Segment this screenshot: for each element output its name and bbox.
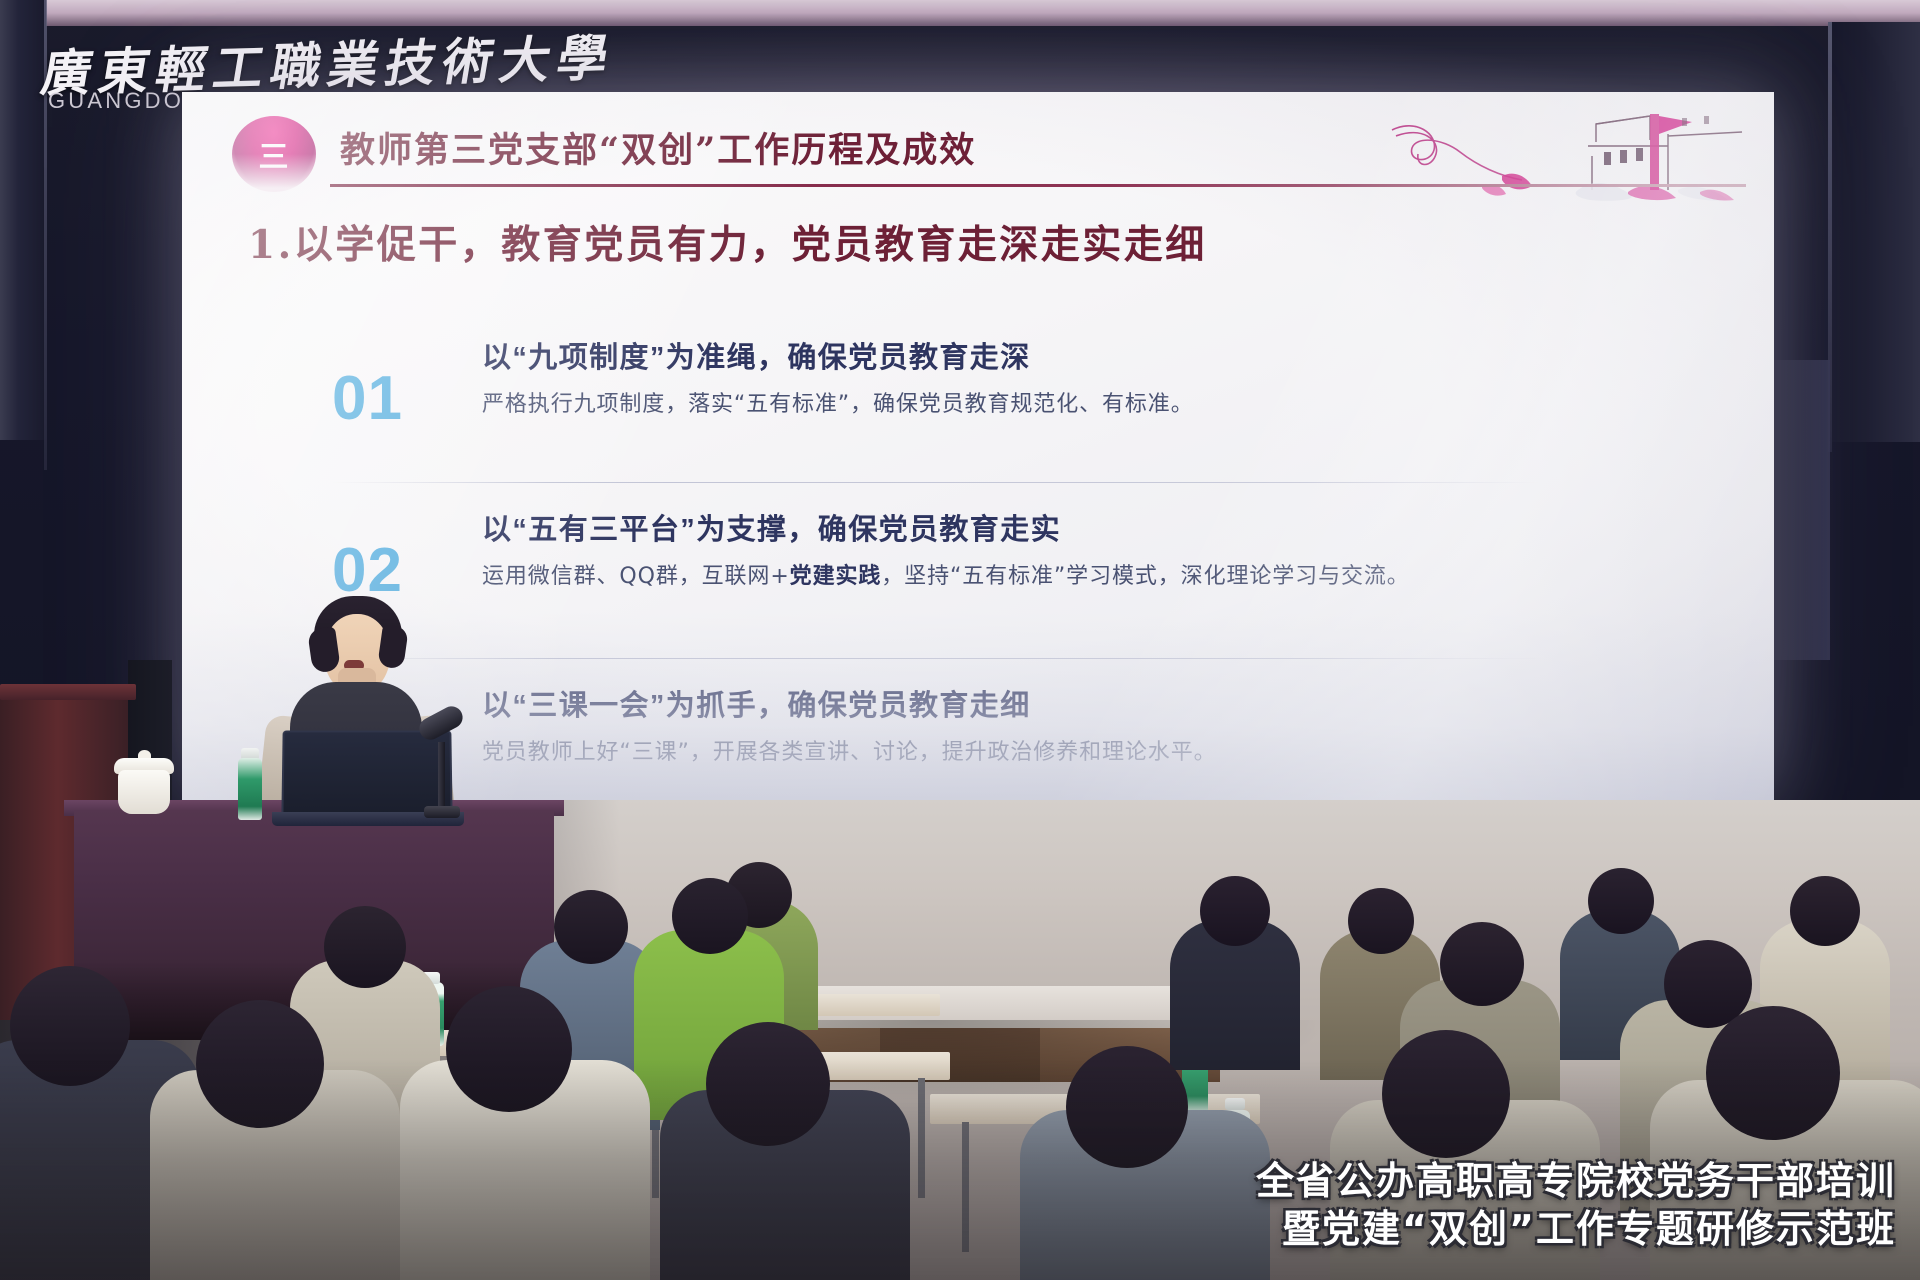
audience-head [1440,922,1524,1006]
desk-leg [918,1078,925,1198]
item-desc-bold: 党建实践 [790,564,882,589]
audience-head [1706,1006,1840,1140]
audience-head [324,906,406,988]
item-separator [332,482,1542,483]
wall-panel-right-lower [1774,360,1830,660]
audience-head [706,1022,830,1146]
audience-head [1382,1030,1510,1158]
item-heading: 以“五有三平台”为支撑，确保党员教育走实 [482,512,1622,548]
item-desc-prefix: 运用微信群、QQ群，互联网+ [482,564,790,589]
slide-header-rule [330,184,1746,187]
conference-photo: 廣東輕工職業技術大學 GUANGDONG INSTITUTE OF LIGHT … [0,0,1920,1280]
slide-subtitle: 1.以学促干，教育党员有力，党员教育走深走实走细 [248,214,1207,270]
item-desc-suffix: ，坚持“五有标准”学习模式，深化理论学习与交流。 [881,564,1409,589]
section-badge-fade [232,154,316,194]
item-body: 以“五有三平台”为支撑，确保党员教育走实 运用微信群、QQ群，互联网+党建实践，… [482,512,1622,592]
item-description: 运用微信群、QQ群，互联网+党建实践，坚持“五有标准”学习模式，深化理论学习与交… [482,562,1622,592]
audience-head [672,878,748,954]
audience-head [554,890,628,964]
audience-head [1348,888,1414,954]
projection-screen: 三 教师第三党支部“双创”工作历程及成效 1.以学促干，教育党员有力，党员教育走… [182,92,1774,802]
bottle-cap [1225,1098,1245,1110]
wall-panel-right [1828,22,1920,442]
audience-head [1200,876,1270,946]
audience-head [196,1000,324,1128]
event-caption-line-1: 全省公办高职高专院校党务干部培训 [1256,1157,1896,1206]
wall-panel-left [0,0,46,440]
event-caption: 全省公办高职高专院校党务干部培训 暨党建“双创”工作专题研修示范班 [1256,1157,1896,1254]
item-number: 01 [332,368,452,430]
item-number: 02 [332,540,452,602]
desk-leg [962,1122,969,1252]
audience-head [1066,1046,1188,1168]
item-description: 党员教师上好“三课”，开展各类宣讲、讨论，提升政治修养和理论水平。 [482,738,1622,768]
item-separator [332,658,1542,659]
audience-head [1588,868,1654,934]
audience-head [446,986,572,1112]
item-body: 以“九项制度”为准绳，确保党员教育走深 严格执行九项制度，落实“五有标准”，确保… [482,340,1622,420]
water-bottle-table [238,758,262,820]
item-heading: 以“九项制度”为准绳，确保党员教育走深 [482,340,1622,376]
item-desc-prefix: 严格执行九项制度，落实“五有标准”，确保党员教育规范化、有标准。 [482,392,1194,417]
microphone-base [424,806,460,818]
slide-header: 三 教师第三党支部“双创”工作历程及成效 [214,110,1744,196]
item-desc-prefix: 党员教师上好“三课”，开展各类宣讲、讨论，提升政治修养和理论水平。 [482,740,1217,765]
item-heading: 以“三课一会”为抓手，确保党员教育走细 [482,688,1622,724]
audience-head [10,966,130,1086]
podium-top [0,684,136,700]
item-body: 以“三课一会”为抓手，确保党员教育走细 党员教师上好“三课”，开展各类宣讲、讨论… [482,688,1622,768]
slide-header-title: 教师第三党支部“双创”工作历程及成效 [340,122,976,173]
tea-cup [118,770,170,814]
event-caption-line-2: 暨党建“双创”工作专题研修示范班 [1256,1205,1896,1254]
item-description: 严格执行九项制度，落实“五有标准”，确保党员教育规范化、有标准。 [482,390,1622,420]
audience-head [1790,876,1860,946]
